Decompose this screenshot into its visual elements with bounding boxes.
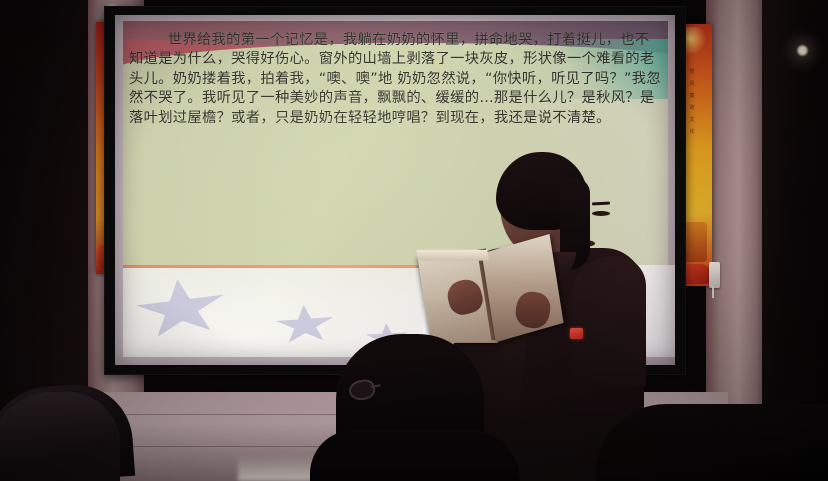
book-right-page bbox=[482, 234, 564, 342]
audience-member-right bbox=[596, 404, 828, 481]
poster-glyph-6: 化 bbox=[689, 130, 694, 135]
poster-glyph-2: 风 bbox=[689, 82, 694, 87]
presenter-right-shoulder bbox=[572, 256, 646, 386]
ceiling-light bbox=[796, 44, 809, 57]
book-page-edge bbox=[416, 250, 489, 261]
star-decoration-medium bbox=[274, 303, 337, 347]
poster-column-text: 党 风 廉 政 文 化 bbox=[684, 70, 700, 135]
audience-left-hair bbox=[0, 392, 120, 481]
light-switch[interactable] bbox=[709, 262, 720, 288]
slide-body-text: 世界给我的第一个记忆是，我躺在奶奶的怀里，拼命地哭，打着挺儿，也不知道是为什么，… bbox=[129, 31, 663, 128]
poster-glyph-3: 廉 bbox=[689, 94, 694, 99]
audience-center-shoulders bbox=[310, 430, 520, 481]
poster-glyph-4: 政 bbox=[689, 106, 694, 111]
poster-glyph-5: 文 bbox=[689, 118, 694, 123]
star-decoration-large bbox=[132, 274, 231, 345]
poster-glyph-1: 党 bbox=[689, 70, 694, 75]
classroom-scene: ☭ 党 风 廉 政 文 化 bbox=[0, 0, 828, 481]
open-book bbox=[417, 234, 567, 352]
presenter-eye-right bbox=[592, 211, 610, 216]
presenter-brow-right bbox=[592, 202, 610, 206]
lapel-badge bbox=[570, 328, 583, 339]
